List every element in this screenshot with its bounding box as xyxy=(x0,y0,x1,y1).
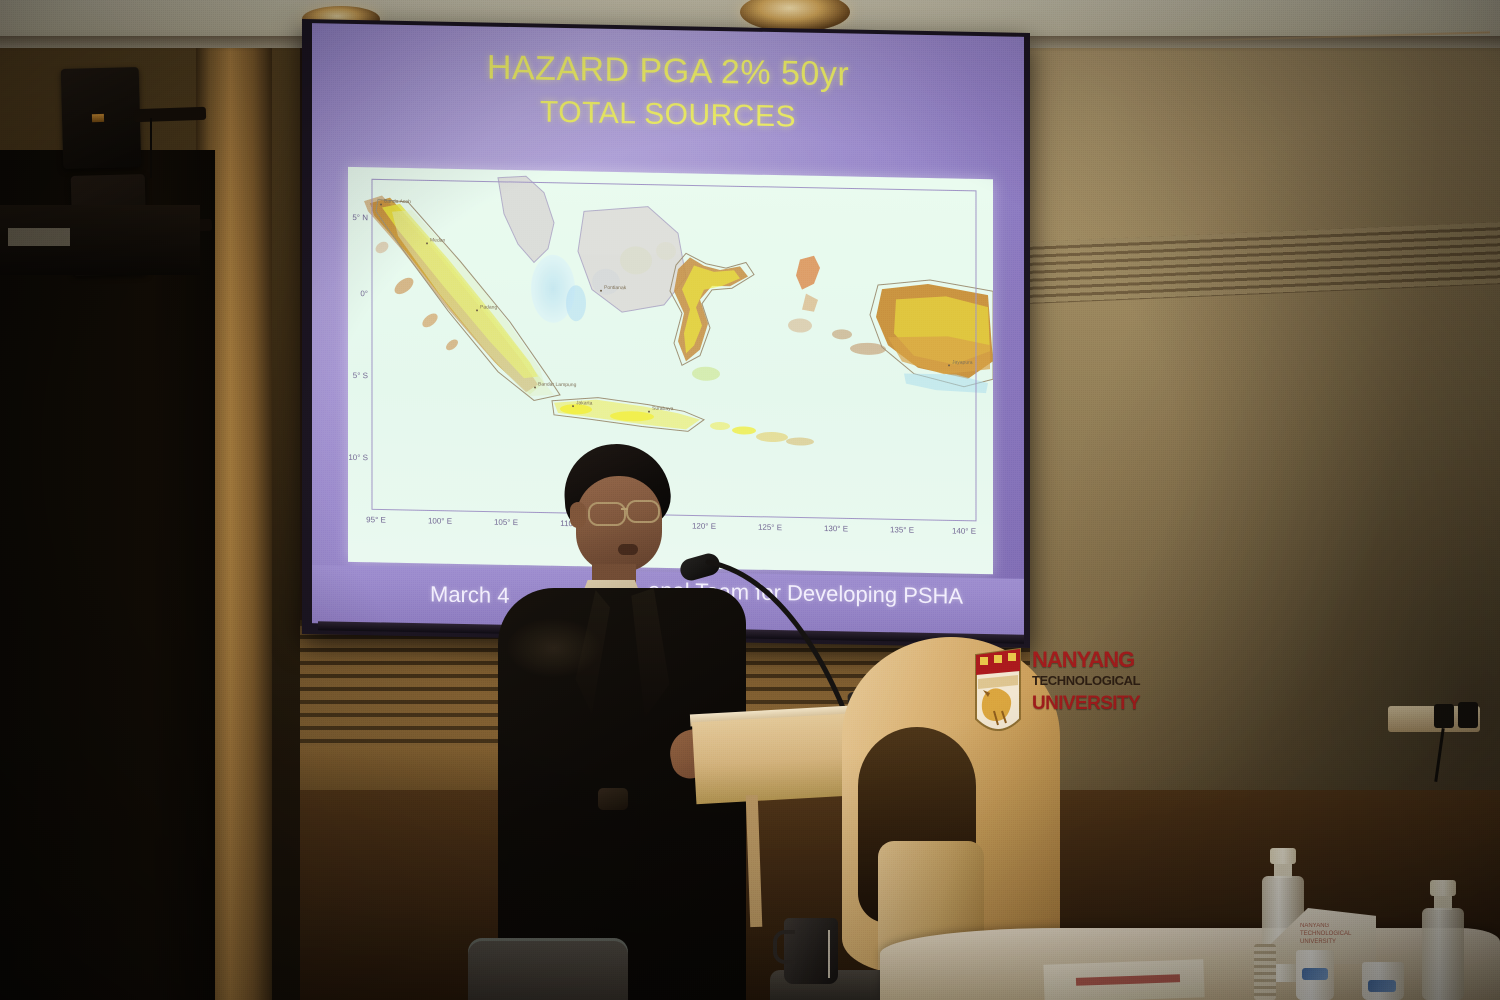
city-label-padang: Padang xyxy=(480,304,497,310)
city-dot-surabaya xyxy=(648,411,650,413)
city-label-lampung: Bandar Lampung xyxy=(538,382,576,389)
city-dot-banda-aceh xyxy=(380,203,382,205)
coffee-mug-handle-icon xyxy=(773,930,795,964)
lon-tick-140: 140° E xyxy=(944,526,984,536)
city-dot-pontianak xyxy=(600,290,602,292)
chair-back[interactable] xyxy=(468,938,628,1000)
city-dot-jakarta xyxy=(572,405,574,407)
lat-tick-5s: 5° S xyxy=(334,371,368,381)
lat-tick-0: 0° xyxy=(334,289,368,299)
city-label-banda-aceh: Banda Aceh xyxy=(384,199,411,206)
podium-leg-left xyxy=(746,795,763,927)
lon-tick-100: 100° E xyxy=(420,516,460,526)
bottle-cap-left-icon xyxy=(1270,848,1296,864)
presenter-shoulder-highlight xyxy=(506,618,602,678)
city-label-jayapura: Jayapura xyxy=(952,359,973,365)
presenter-glasses-icon xyxy=(588,502,626,526)
speaker-bracket-upper xyxy=(134,107,206,123)
presenter-glasses-icon-right xyxy=(626,500,660,523)
power-plug-2-icon xyxy=(1458,702,1478,728)
city-label-jakarta: Jakarta xyxy=(576,400,592,406)
ntu-crest-icon xyxy=(972,645,1024,743)
presenter-ear xyxy=(570,502,586,528)
city-label-pontianak: Pontianak xyxy=(604,285,626,291)
paper-cup-center-logo-icon xyxy=(1368,980,1396,992)
water-bottle-right[interactable] xyxy=(1422,880,1464,1000)
conference-room-photo: HAZARD PGA 2% 50yr TOTAL SOURCES xyxy=(0,0,1500,1000)
bottle-body-right xyxy=(1422,908,1464,1000)
lon-tick-95: 95° E xyxy=(356,515,396,525)
city-label-surabaya: Surabaya xyxy=(652,406,673,412)
presenter-belt-buckle xyxy=(598,788,628,810)
left-dark-area xyxy=(0,150,215,1000)
paper-cup-left-logo-icon xyxy=(1302,968,1328,980)
wall-speaker-upper xyxy=(61,67,142,169)
city-dot-padang xyxy=(476,309,478,311)
name-card-text: NANYANG TECHNOLOGICAL UNIVERSITY xyxy=(1300,922,1374,946)
presenter-mouth xyxy=(618,544,638,555)
podium-logo-line3: UNIVERSITY xyxy=(1032,693,1140,715)
city-dot-medan xyxy=(426,242,428,244)
lon-tick-135: 135° E xyxy=(882,525,922,535)
lat-tick-5n: 5° N xyxy=(334,213,368,223)
city-dot-lampung xyxy=(534,386,536,388)
city-dot-jayapura xyxy=(948,364,950,366)
panel-label-strip xyxy=(8,228,70,246)
podium-logo-line2: TECHNOLOGICAL xyxy=(1032,673,1140,688)
lon-tick-130: 130° E xyxy=(816,524,856,534)
city-label-medan: Medan xyxy=(430,237,445,243)
presenter-glasses-bridge xyxy=(621,508,628,510)
bottle-cap-right-icon xyxy=(1430,880,1456,896)
tea-tag xyxy=(828,930,830,978)
power-plug-1-icon xyxy=(1434,704,1454,728)
lat-tick-10s: 10° S xyxy=(334,453,368,463)
spiral-notebook[interactable] xyxy=(1254,944,1276,1000)
speaker-cable xyxy=(150,118,152,178)
podium-logo-line1: NANYANG xyxy=(1032,647,1134,673)
speaker-led-upper-icon xyxy=(92,114,104,122)
